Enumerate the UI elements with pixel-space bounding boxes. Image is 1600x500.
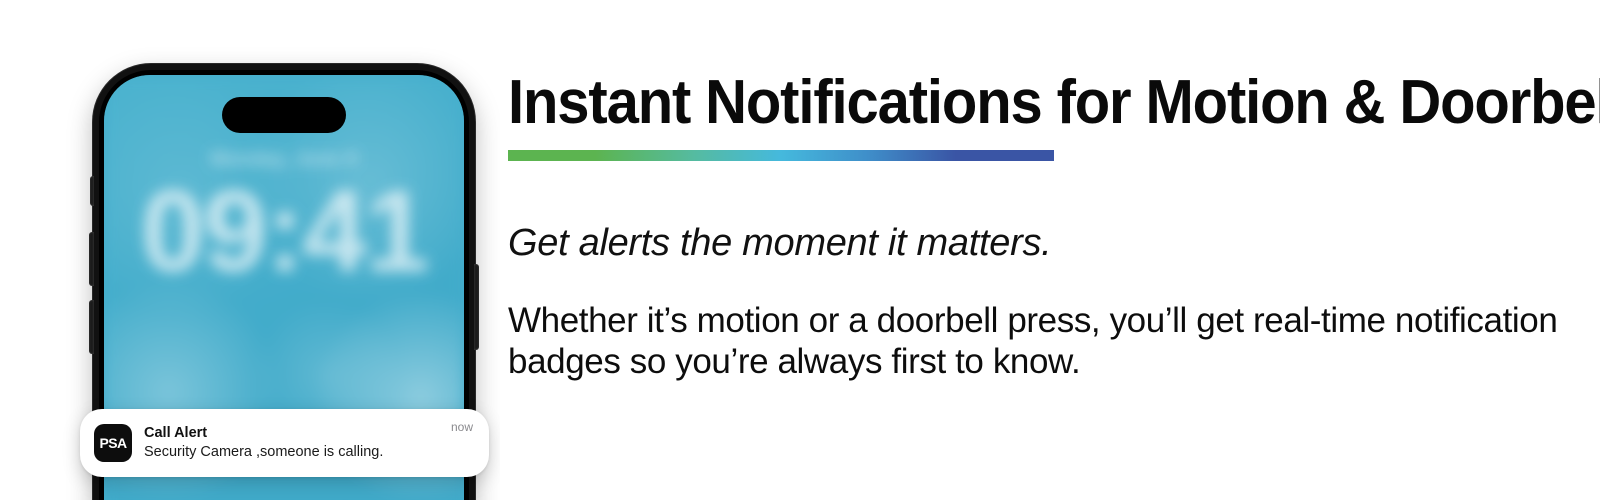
app-icon-psa: PSA bbox=[94, 424, 132, 462]
notification-timestamp: now bbox=[451, 420, 473, 434]
notification-body: Call Alert Security Camera ,someone is c… bbox=[132, 425, 451, 461]
notification-message: Security Camera ,someone is calling. bbox=[144, 443, 451, 461]
lock-screen-clock-stack: Monday, June 9 09:41 bbox=[104, 149, 464, 289]
body-paragraph: Whether it’s motion or a doorbell press,… bbox=[508, 300, 1568, 383]
power-button[interactable] bbox=[474, 264, 479, 350]
slide-canvas: Monday, June 9 09:41 PSA Call Alert Secu… bbox=[0, 0, 1600, 500]
silent-switch[interactable] bbox=[90, 176, 94, 206]
notification-title: Call Alert bbox=[144, 425, 451, 443]
subheadline: Get alerts the moment it matters. bbox=[508, 222, 1051, 266]
accent-gradient-bar bbox=[508, 150, 1054, 161]
content-column: Instant Notifications for Motion & Doorb… bbox=[508, 0, 1568, 500]
page-title: Instant Notifications for Motion & Doorb… bbox=[508, 72, 1600, 134]
phone-mockup-stage: Monday, June 9 09:41 PSA Call Alert Secu… bbox=[0, 0, 500, 500]
lock-screen-time: 09:41 bbox=[104, 173, 464, 289]
app-icon-label: PSA bbox=[100, 435, 127, 451]
notification-banner[interactable]: PSA Call Alert Security Camera ,someone … bbox=[80, 409, 489, 477]
volume-up-button[interactable] bbox=[89, 232, 94, 286]
volume-down-button[interactable] bbox=[89, 300, 94, 354]
dynamic-island bbox=[222, 97, 346, 133]
